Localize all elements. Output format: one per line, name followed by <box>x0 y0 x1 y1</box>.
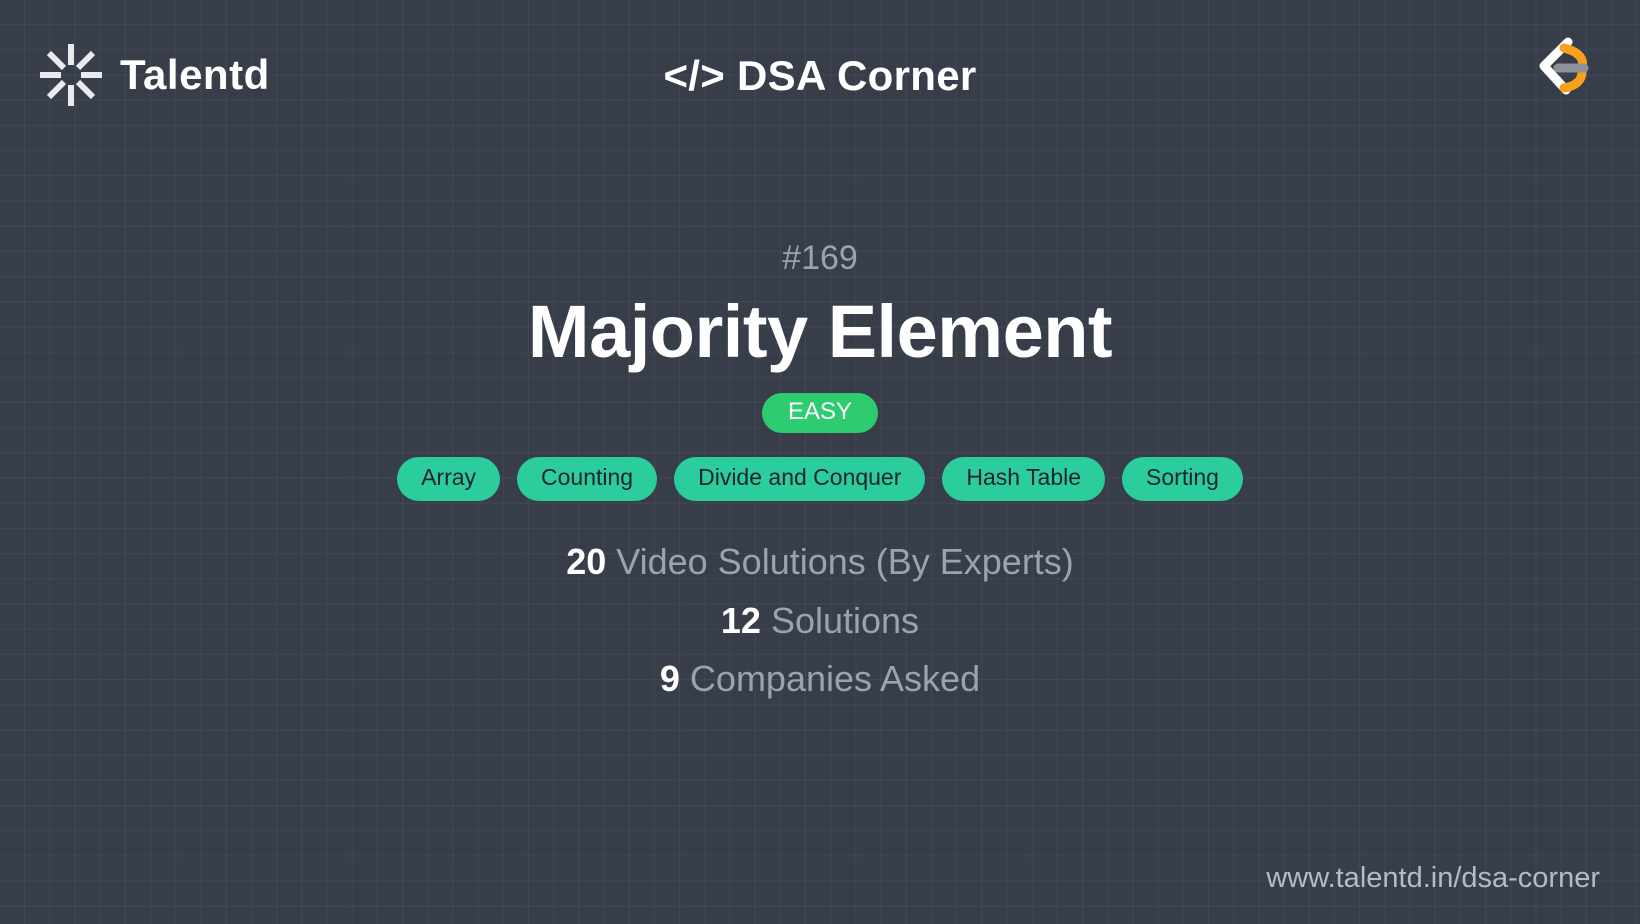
page-title: </> DSA Corner <box>0 52 1640 100</box>
footer: www.talentd.in/dsa-corner <box>1266 861 1600 896</box>
stat-label: Solutions <box>761 600 919 641</box>
stat-label: Video Solutions (By Experts) <box>606 541 1074 582</box>
problem-title: Majority Element <box>528 293 1112 371</box>
tag-chip[interactable]: Sorting <box>1122 457 1243 500</box>
tag-chip[interactable]: Counting <box>517 457 657 500</box>
tag-list: Array Counting Divide and Conquer Hash T… <box>397 457 1243 500</box>
tag-chip[interactable]: Array <box>397 457 500 500</box>
header: Talentd </> DSA Corner <box>0 0 1640 155</box>
stat-row: 20 Video Solutions (By Experts) <box>566 539 1074 586</box>
stat-label: Companies Asked <box>680 658 980 699</box>
stat-row: 12 Solutions <box>721 598 919 645</box>
tag-chip[interactable]: Hash Table <box>942 457 1105 500</box>
stat-value: 12 <box>721 600 761 641</box>
problem-number: #169 <box>782 240 858 277</box>
problem-panel: #169 Majority Element EASY Array Countin… <box>0 155 1640 834</box>
dsa-corner-card: Talentd </> DSA Corner #169 Majority Ele… <box>0 0 1640 924</box>
footer-url[interactable]: www.talentd.in/dsa-corner <box>1266 862 1600 894</box>
stat-row: 9 Companies Asked <box>660 656 980 703</box>
stats-list: 20 Video Solutions (By Experts) 12 Solut… <box>566 539 1074 703</box>
difficulty-badge: EASY <box>762 393 878 433</box>
tag-chip[interactable]: Divide and Conquer <box>674 457 925 500</box>
stat-value: 9 <box>660 658 680 699</box>
stat-value: 20 <box>566 541 606 582</box>
